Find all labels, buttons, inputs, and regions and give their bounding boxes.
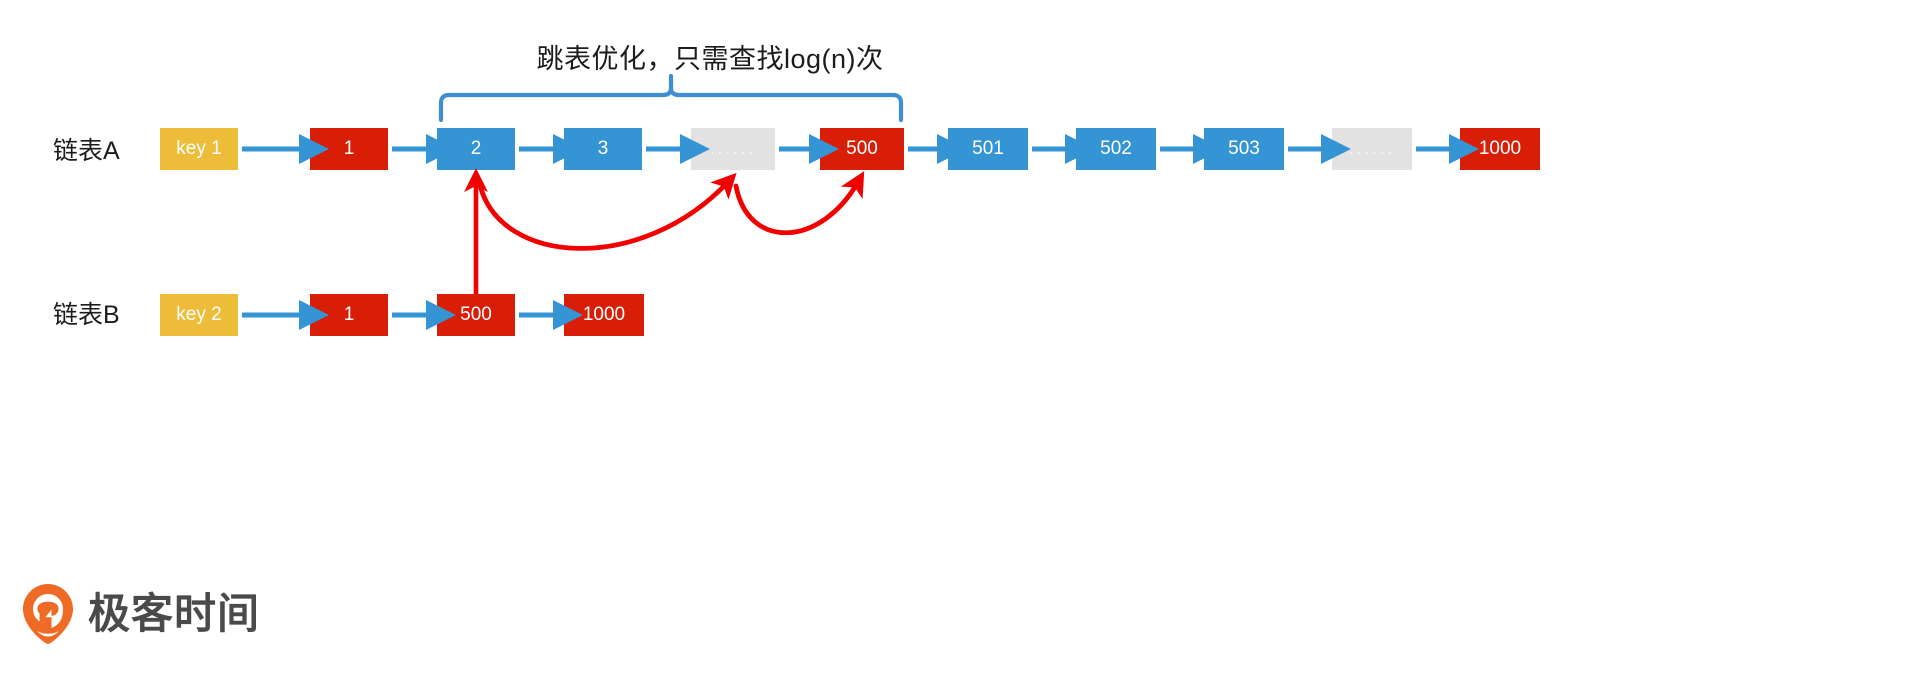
list-b-node-1[interactable]: 1 [310,294,388,336]
geek-pin-icon [22,583,74,645]
node-label: 2 [471,128,482,170]
list-a-node-3[interactable]: 3 [564,128,642,170]
diagram-caption: 跳表优化，只需查找log(n)次 [0,42,1920,76]
list-a-node-ellipsis-1[interactable]: ...... [691,128,775,170]
skip-pointer-arrows [476,180,858,294]
skip-arrow-ellipsis-to-a500 [736,182,858,233]
node-label: 500 [460,294,492,336]
node-label: ...... [710,128,756,170]
node-label: 1000 [1479,128,1521,170]
diagram-caption-text: 跳表优化，只需查找log(n)次 [536,42,883,76]
node-label: 1 [344,294,355,336]
span-brace [441,76,901,120]
node-label: 1 [344,128,355,170]
list-b-node-1000[interactable]: 1000 [564,294,644,336]
diagram-canvas: 跳表优化，只需查找log(n)次 链表A 链表B key 1 1 2 3 ...… [0,0,1920,679]
node-label: 502 [1100,128,1132,170]
node-label: ...... [1349,128,1395,170]
list-a-node-501[interactable]: 501 [948,128,1028,170]
list-a-node-503[interactable]: 503 [1204,128,1284,170]
row-label-list-a: 链表A [53,136,120,166]
node-label: 3 [598,128,609,170]
node-label: key 2 [176,294,221,336]
list-a-node-502[interactable]: 502 [1076,128,1156,170]
diagram-vector-layer [0,0,1920,679]
node-label: 500 [846,128,878,170]
list-b-node-key-2[interactable]: key 2 [160,294,238,336]
brand-logo: 极客时间 [22,583,260,645]
list-a-node-1[interactable]: 1 [310,128,388,170]
list-a-node-1000[interactable]: 1000 [1460,128,1540,170]
list-a-node-500[interactable]: 500 [820,128,904,170]
brand-logo-text: 极客时间 [88,590,260,638]
list-a-node-key-1[interactable]: key 1 [160,128,238,170]
node-label: 501 [972,128,1004,170]
list-a-node-ellipsis-2[interactable]: ...... [1332,128,1412,170]
node-label: 503 [1228,128,1260,170]
list-b-node-500[interactable]: 500 [437,294,515,336]
row-label-list-b: 链表B [53,300,120,330]
list-a-node-2[interactable]: 2 [437,128,515,170]
node-label: key 1 [176,128,221,170]
skip-arrow-a2-to-ellipsis [480,182,728,248]
node-label: 1000 [583,294,625,336]
